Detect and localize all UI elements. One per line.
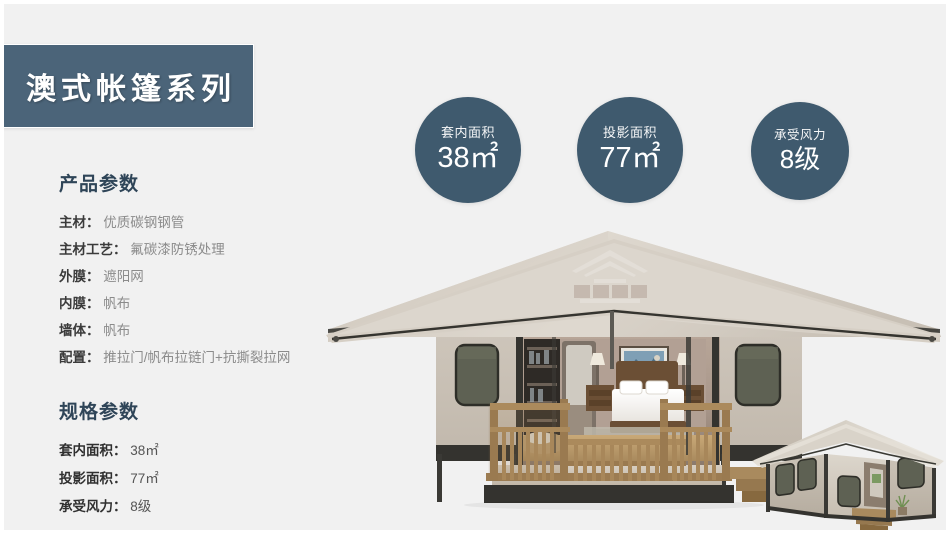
spec-params-heading: 规格参数 [59,397,359,424]
param-label: 外膜： [59,269,100,284]
stat-value: 38㎡ [437,143,498,173]
product-params-heading: 产品参数 [59,169,359,196]
param-row: 承受风力： 8级 [59,493,359,521]
param-label: 套内面积： [59,443,127,458]
title-banner: 澳式帐篷系列 [0,44,254,128]
param-row: 配置： 推拉门/帆布拉链门+抗撕裂拉网 [59,344,359,371]
spec-params-list: 套内面积： 38㎡ 投影面积： 77㎡ 承受风力： 8级 [59,437,359,521]
param-label: 主材工艺： [59,242,127,257]
param-label: 主材： [59,215,100,230]
param-row: 主材工艺： 氟碳漆防锈处理 [59,236,359,263]
param-value: 推拉门/帆布拉链门+抗撕裂拉网 [103,350,290,365]
stat-label: 套内面积 [441,126,495,140]
stat-value: 8级 [780,146,820,173]
stat-label: 承受风力 [774,129,826,143]
param-value: 8级 [130,499,151,514]
stat-value: 77㎡ [599,143,660,173]
stat-label: 投影面积 [603,126,657,140]
stat-badge-projected-area: 投影面积 77㎡ [577,97,683,203]
param-value: 帆布 [103,323,130,338]
param-value: 帆布 [103,296,130,311]
param-row: 投影面积： 77㎡ [59,465,359,493]
param-row: 主材： 优质碳钢钢管 [59,209,359,236]
param-label: 墙体： [59,323,100,338]
param-value: 氟碳漆防锈处理 [130,242,225,257]
param-value: 优质碳钢钢管 [103,215,184,230]
param-value: 遮阳网 [103,269,144,284]
param-row: 套内面积： 38㎡ [59,437,359,465]
spec-column: 产品参数 主材： 优质碳钢钢管 主材工艺： 氟碳漆防锈处理 外膜： 遮阳网 内膜… [59,169,359,521]
param-row: 内膜： 帆布 [59,290,359,317]
secondary-tent-image [746,416,950,534]
param-value: 77㎡ [130,471,159,486]
stat-badge-wind-resistance: 承受风力 8级 [751,102,849,200]
slide-canvas: 澳式帐篷系列 产品参数 主材： 优质碳钢钢管 主材工艺： 氟碳漆防锈处理 外膜：… [0,0,950,534]
param-row: 墙体： 帆布 [59,317,359,344]
param-value: 38㎡ [130,443,159,458]
product-params-list: 主材： 优质碳钢钢管 主材工艺： 氟碳漆防锈处理 外膜： 遮阳网 内膜： 帆布 … [59,209,359,371]
stat-badge-indoor-area: 套内面积 38㎡ [415,97,521,203]
param-label: 配置： [59,350,100,365]
param-label: 投影面积： [59,471,127,486]
param-label: 内膜： [59,296,100,311]
param-row: 外膜： 遮阳网 [59,263,359,290]
param-label: 承受风力： [59,499,127,514]
page-title: 澳式帐篷系列 [16,64,236,108]
